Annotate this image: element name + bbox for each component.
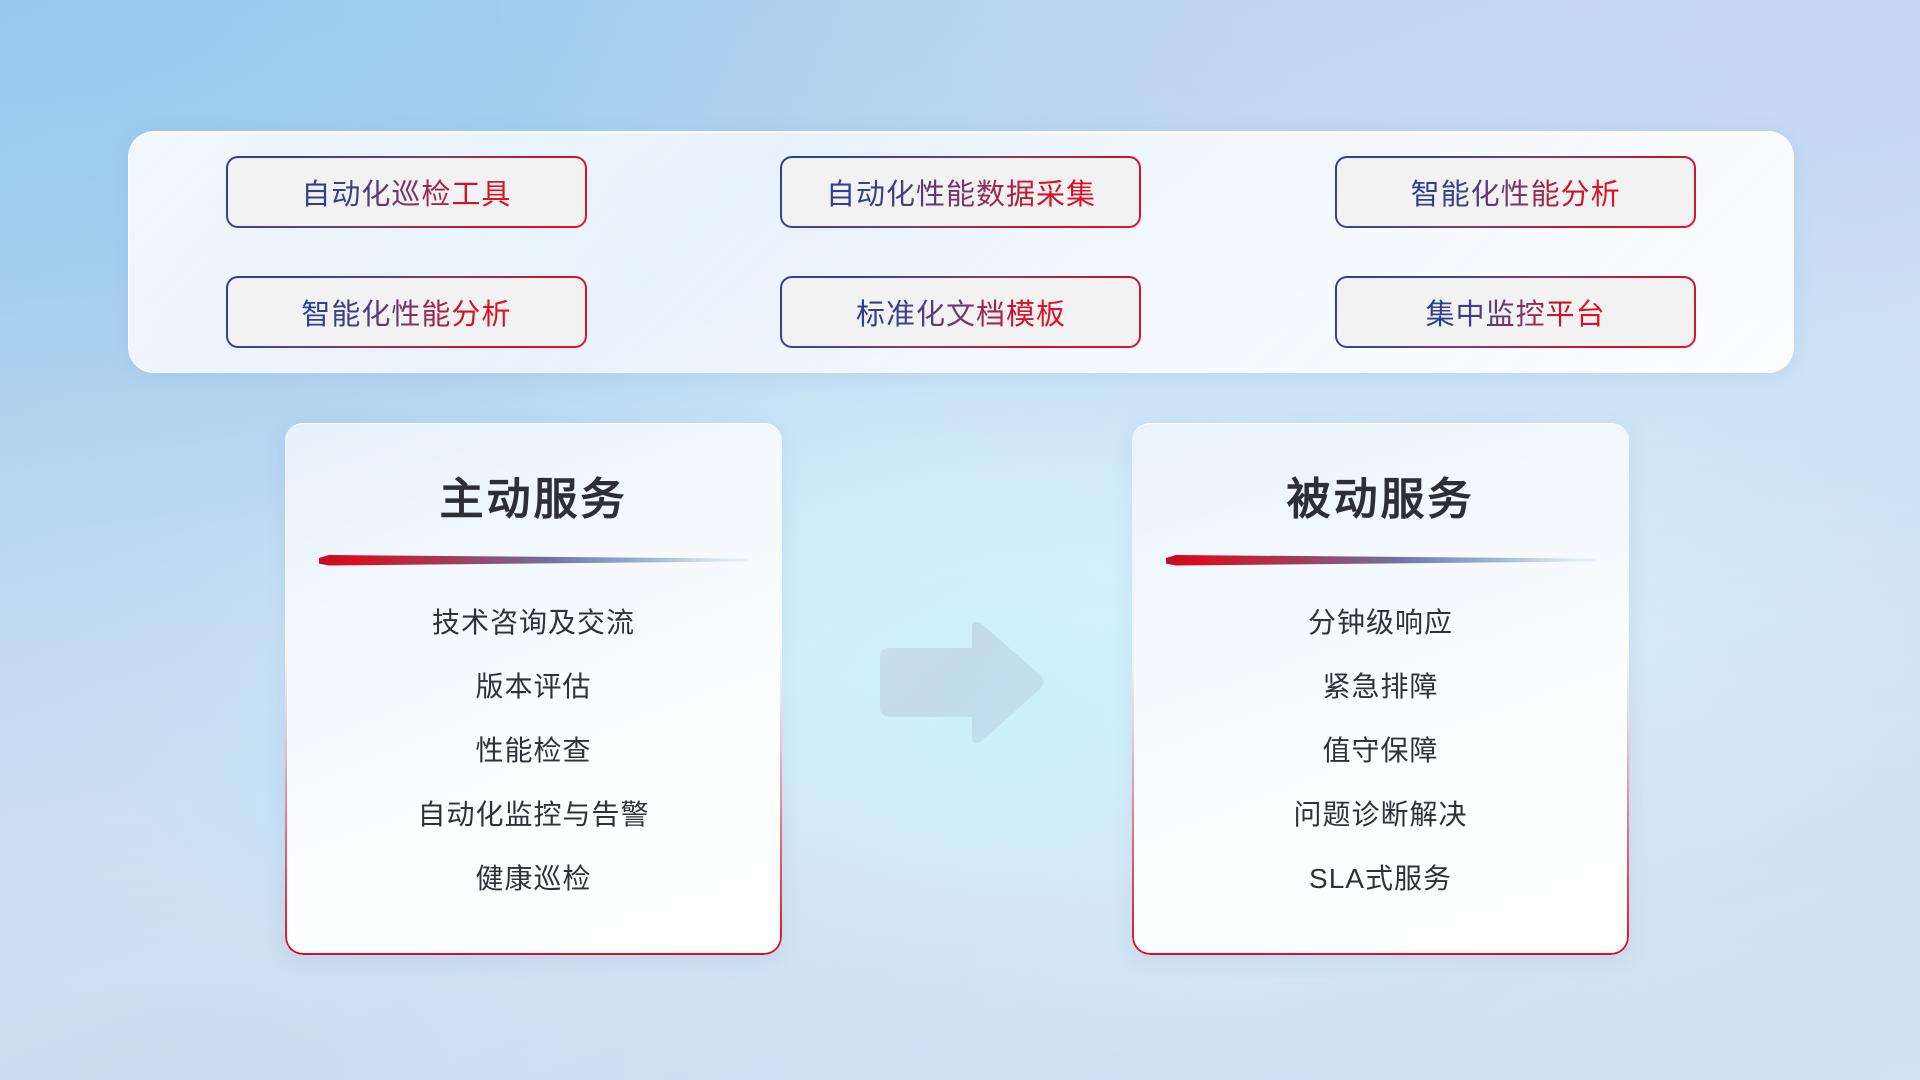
service-item: 值守保障 — [1322, 729, 1438, 769]
slide-canvas: 自动化巡检工具 自动化性能数据采集 智能化性能分析 智能化性能分析 标准化文档模… — [0, 0, 1920, 1080]
card-divider — [319, 554, 749, 567]
capability-pill-label: 标准化文档模板 — [856, 291, 1066, 333]
service-item-list: 分钟级响应 紧急排障 值守保障 问题诊断解决 SLA式服务 — [1132, 601, 1629, 897]
service-card-reactive[interactable]: 被动服务 分钟级响应 紧急排障 值守保障 问题诊断解决 SLA式服务 — [1132, 423, 1629, 955]
capability-pill-3[interactable]: 智能化性能分析 — [1337, 158, 1694, 226]
service-item: 版本评估 — [475, 665, 591, 705]
card-divider — [1166, 554, 1596, 567]
service-item: 自动化监控与告警 — [417, 793, 649, 833]
service-item: 问题诊断解决 — [1293, 793, 1467, 833]
capability-pill-2[interactable]: 自动化性能数据采集 — [782, 158, 1139, 226]
capability-pill-4[interactable]: 智能化性能分析 — [228, 278, 585, 346]
capability-pill-1[interactable]: 自动化巡检工具 — [228, 158, 585, 226]
service-item: 分钟级响应 — [1308, 601, 1453, 641]
service-item: 健康巡检 — [475, 857, 591, 897]
capability-pill-label: 智能化性能分析 — [1411, 171, 1621, 213]
capability-pill-5[interactable]: 标准化文档模板 — [782, 278, 1139, 346]
capability-pill-label: 智能化性能分析 — [301, 291, 511, 333]
service-item: 性能检查 — [475, 729, 591, 769]
service-card-proactive[interactable]: 主动服务 技术咨询及交流 版本评估 性能检查 自动化监控与告警 健康巡检 — [285, 423, 782, 955]
capability-pill-grid: 自动化巡检工具 自动化性能数据采集 智能化性能分析 智能化性能分析 标准化文档模… — [129, 132, 1793, 372]
card-title: 主动服务 — [285, 463, 782, 527]
service-item-list: 技术咨询及交流 版本评估 性能检查 自动化监控与告警 健康巡检 — [285, 601, 782, 897]
capability-panel: 自动化巡检工具 自动化性能数据采集 智能化性能分析 智能化性能分析 标准化文档模… — [128, 131, 1794, 373]
capability-pill-6[interactable]: 集中监控平台 — [1337, 278, 1694, 346]
service-item: SLA式服务 — [1309, 857, 1452, 897]
card-title: 被动服务 — [1132, 463, 1629, 527]
capability-pill-label: 自动化性能数据采集 — [826, 171, 1096, 213]
arrow-right-icon — [874, 618, 1046, 748]
service-item: 技术咨询及交流 — [432, 601, 635, 641]
capability-pill-label: 集中监控平台 — [1426, 291, 1606, 333]
capability-pill-label: 自动化巡检工具 — [301, 171, 511, 213]
service-item: 紧急排障 — [1322, 665, 1438, 705]
